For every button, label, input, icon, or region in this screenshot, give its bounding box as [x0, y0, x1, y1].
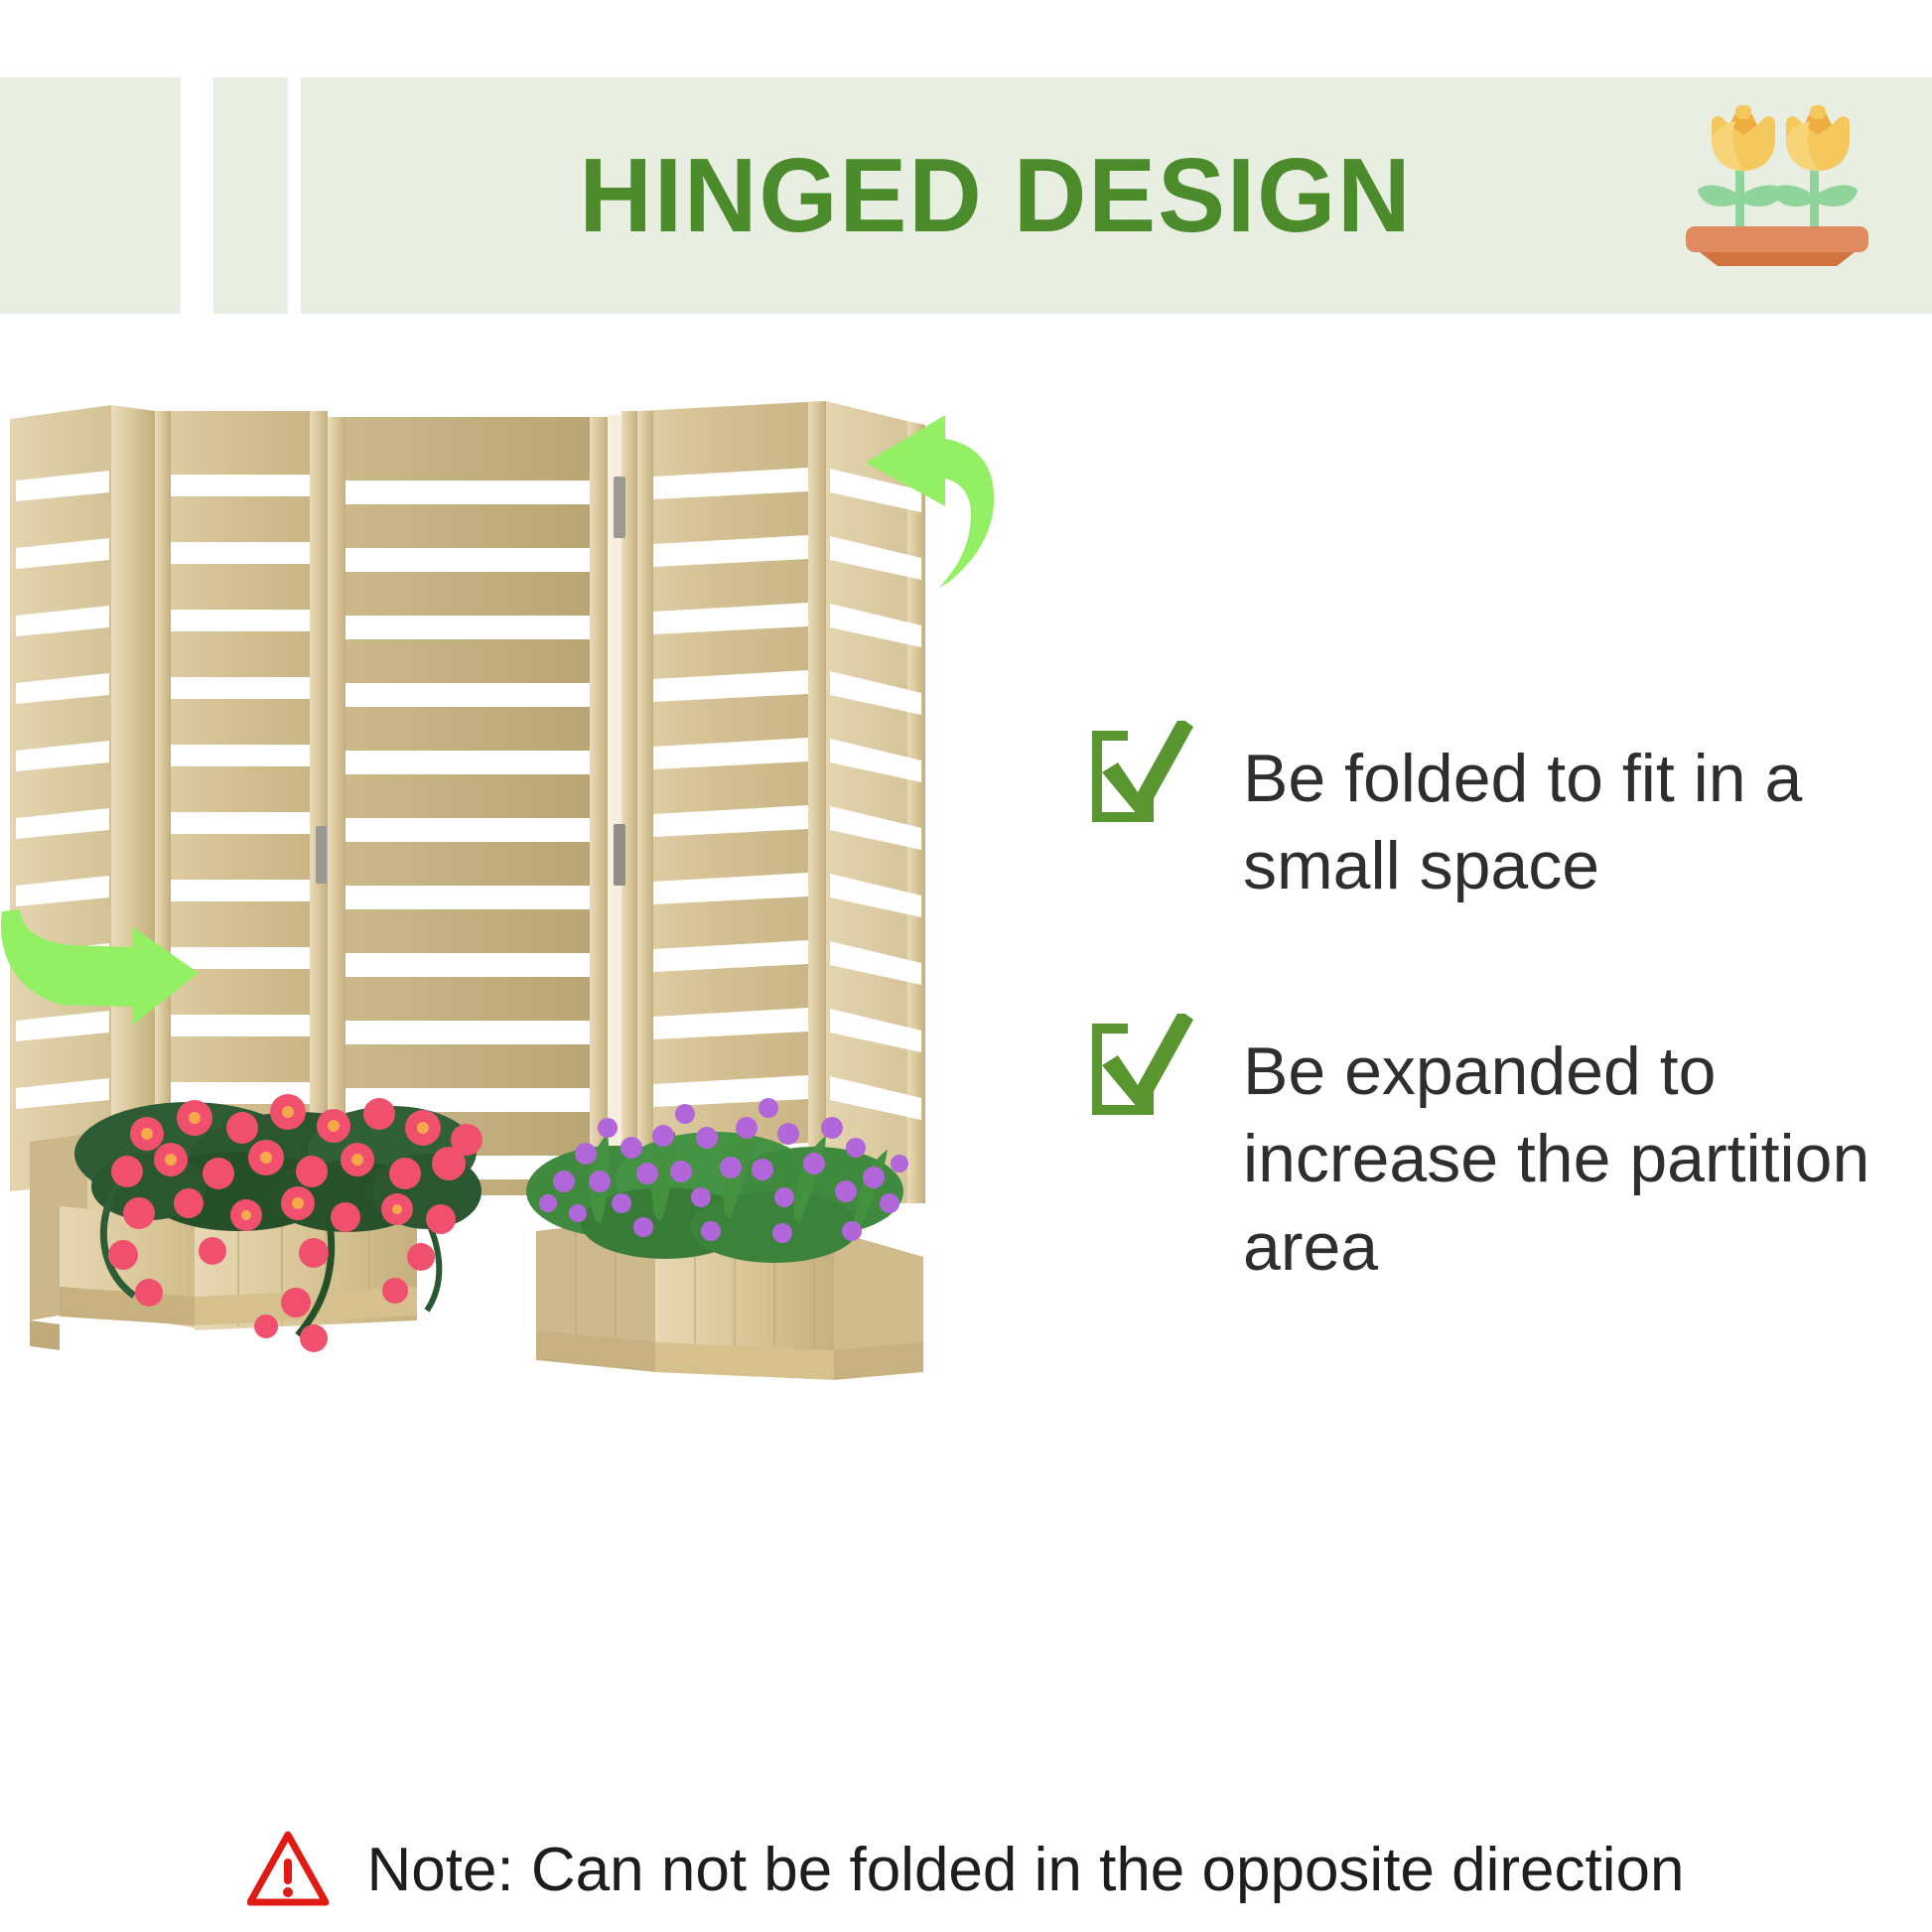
potted-tulips-icon	[1678, 87, 1876, 266]
screen-panel-4	[637, 401, 826, 1203]
check-box-icon	[1082, 1014, 1193, 1125]
header-band-segment-left	[0, 77, 181, 314]
feature-item-1: Be folded to fit in a small space	[1082, 735, 1906, 910]
check-box-icon	[1082, 721, 1193, 832]
feature-item-2-label: Be expanded to increase the partition ar…	[1243, 1028, 1878, 1291]
header-band-segment-middle	[213, 77, 288, 314]
hinge-icon	[614, 824, 625, 886]
fold-arrow-left-icon	[0, 872, 203, 1026]
footer-note-label: Note: Can not be folded in the opposite …	[366, 1835, 1684, 1905]
footer-note: Note: Can not be folded in the opposite …	[0, 1815, 1932, 1924]
screen-panel-3	[328, 417, 608, 1195]
hinge-icon	[614, 477, 625, 538]
feature-list: Be folded to fit in a small space Be exp…	[1082, 735, 1906, 1408]
feature-item-2: Be expanded to increase the partition ar…	[1082, 1028, 1906, 1291]
screen-panel-2	[155, 411, 328, 1181]
hinge-icon	[316, 826, 327, 884]
product-image	[0, 397, 1052, 1708]
warning-triangle-icon	[247, 1831, 329, 1908]
planter-foot	[30, 1320, 60, 1350]
fold-arrow-top-icon	[822, 407, 1060, 596]
page-title: HINGED DESIGN	[329, 77, 1663, 314]
feature-item-1-label: Be folded to fit in a small space	[1243, 735, 1878, 910]
screen-panel-1	[10, 405, 155, 1191]
